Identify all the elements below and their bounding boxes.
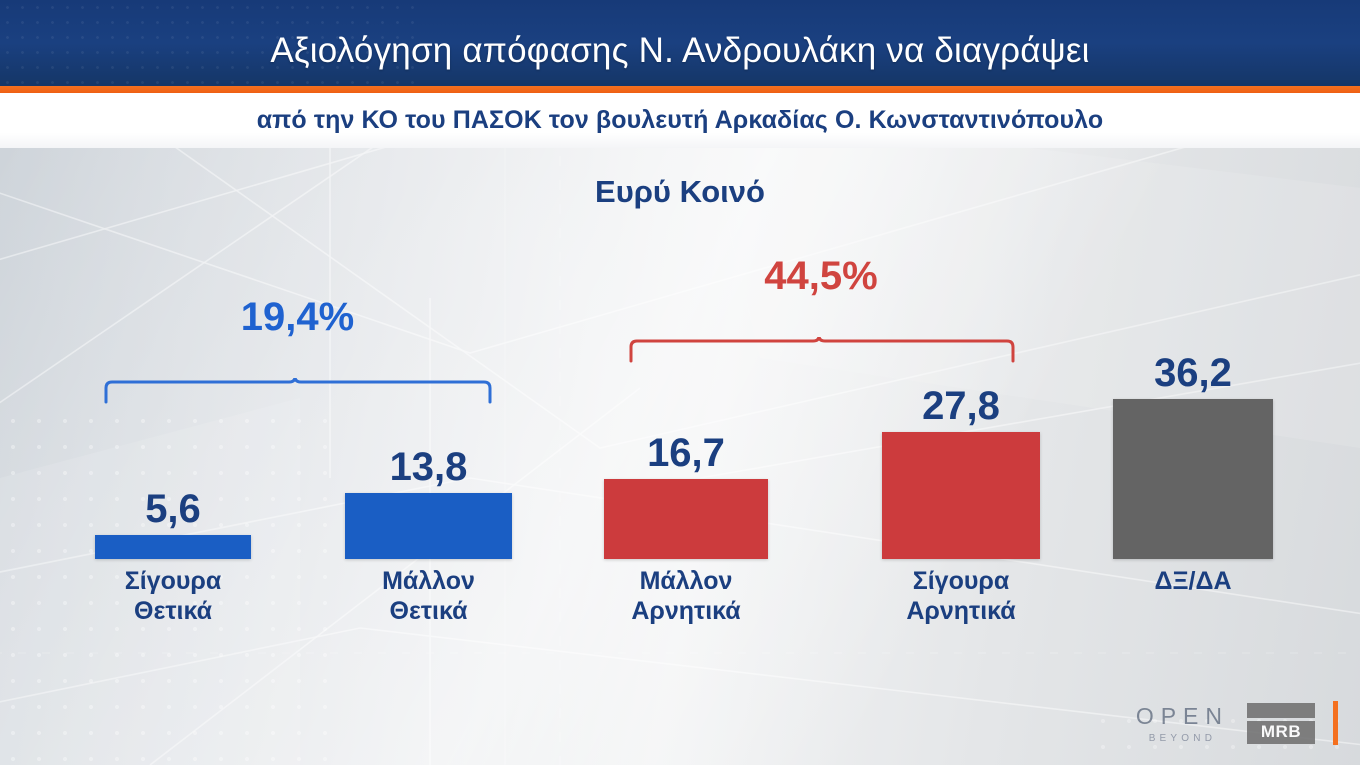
bar-rect xyxy=(345,493,512,559)
bar-column-sigoura-thetika[interactable]: 5,6 Σίγουρα Θετικά xyxy=(95,148,251,559)
open-beyond-logo: OPEN BEYOND xyxy=(1136,703,1229,744)
orange-accent-tick xyxy=(1333,701,1338,745)
category-label: ΔΞ/ΔΑ xyxy=(1113,567,1273,597)
subtitle-band: από την ΚΟ του ΠΑΣΟΚ τον βουλευτή Αρκαδί… xyxy=(0,93,1360,148)
category-label: Μάλλον Αρνητικά xyxy=(604,567,768,626)
bar-column-mallon-thetika[interactable]: 13,8 Μάλλον Θετικά xyxy=(345,148,512,559)
mrb-logo-wordmark: MRB xyxy=(1247,721,1315,744)
category-label: Μάλλον Θετικά xyxy=(345,567,512,626)
mrb-logo: MRB xyxy=(1247,703,1315,744)
page-subtitle: από την ΚΟ του ΠΑΣΟΚ τον βουλευτή Αρκαδί… xyxy=(257,106,1104,135)
footer-logos: OPEN BEYOND MRB xyxy=(1136,701,1338,745)
category-label: Σίγουρα Θετικά xyxy=(95,567,251,626)
mrb-logo-bar xyxy=(1247,703,1315,718)
category-label: Σίγουρα Αρνητικά xyxy=(882,567,1040,626)
bar-value-label: 27,8 xyxy=(882,386,1040,426)
bar-value-label: 16,7 xyxy=(604,433,768,473)
bar-rect xyxy=(604,479,768,559)
bar-value-label: 36,2 xyxy=(1113,353,1273,393)
bar-value-label: 5,6 xyxy=(95,489,251,529)
bar-column-sigoura-arnitika[interactable]: 27,8 Σίγουρα Αρνητικά xyxy=(882,148,1040,559)
bar-value-label: 13,8 xyxy=(345,447,512,487)
bar-rect xyxy=(882,432,1040,559)
bar-column-mallon-arnitika[interactable]: 16,7 Μάλλον Αρνητικά xyxy=(604,148,768,559)
bar-rect xyxy=(95,535,251,559)
bar-plot: 5,6 Σίγουρα Θετικά 13,8 Μάλλον Θετικά 16… xyxy=(0,148,1360,765)
open-logo-wordmark: OPEN xyxy=(1136,703,1229,730)
open-logo-tagline: BEYOND xyxy=(1149,733,1216,744)
bar-column-dx-da[interactable]: 36,2 ΔΞ/ΔΑ xyxy=(1113,148,1273,559)
orange-divider xyxy=(0,86,1360,93)
page-title: Αξιολόγηση απόφασης Ν. Ανδρουλάκη να δια… xyxy=(0,0,1360,86)
bar-rect xyxy=(1113,399,1273,559)
poll-graphic: Αξιολόγηση απόφασης Ν. Ανδρουλάκη να δια… xyxy=(0,0,1360,765)
chart-stage: Ευρύ Κοινό 19,4% 44,5% 5,6 Σίγουρα Θετικ… xyxy=(0,148,1360,765)
header-band: Αξιολόγηση απόφασης Ν. Ανδρουλάκη να δια… xyxy=(0,0,1360,86)
